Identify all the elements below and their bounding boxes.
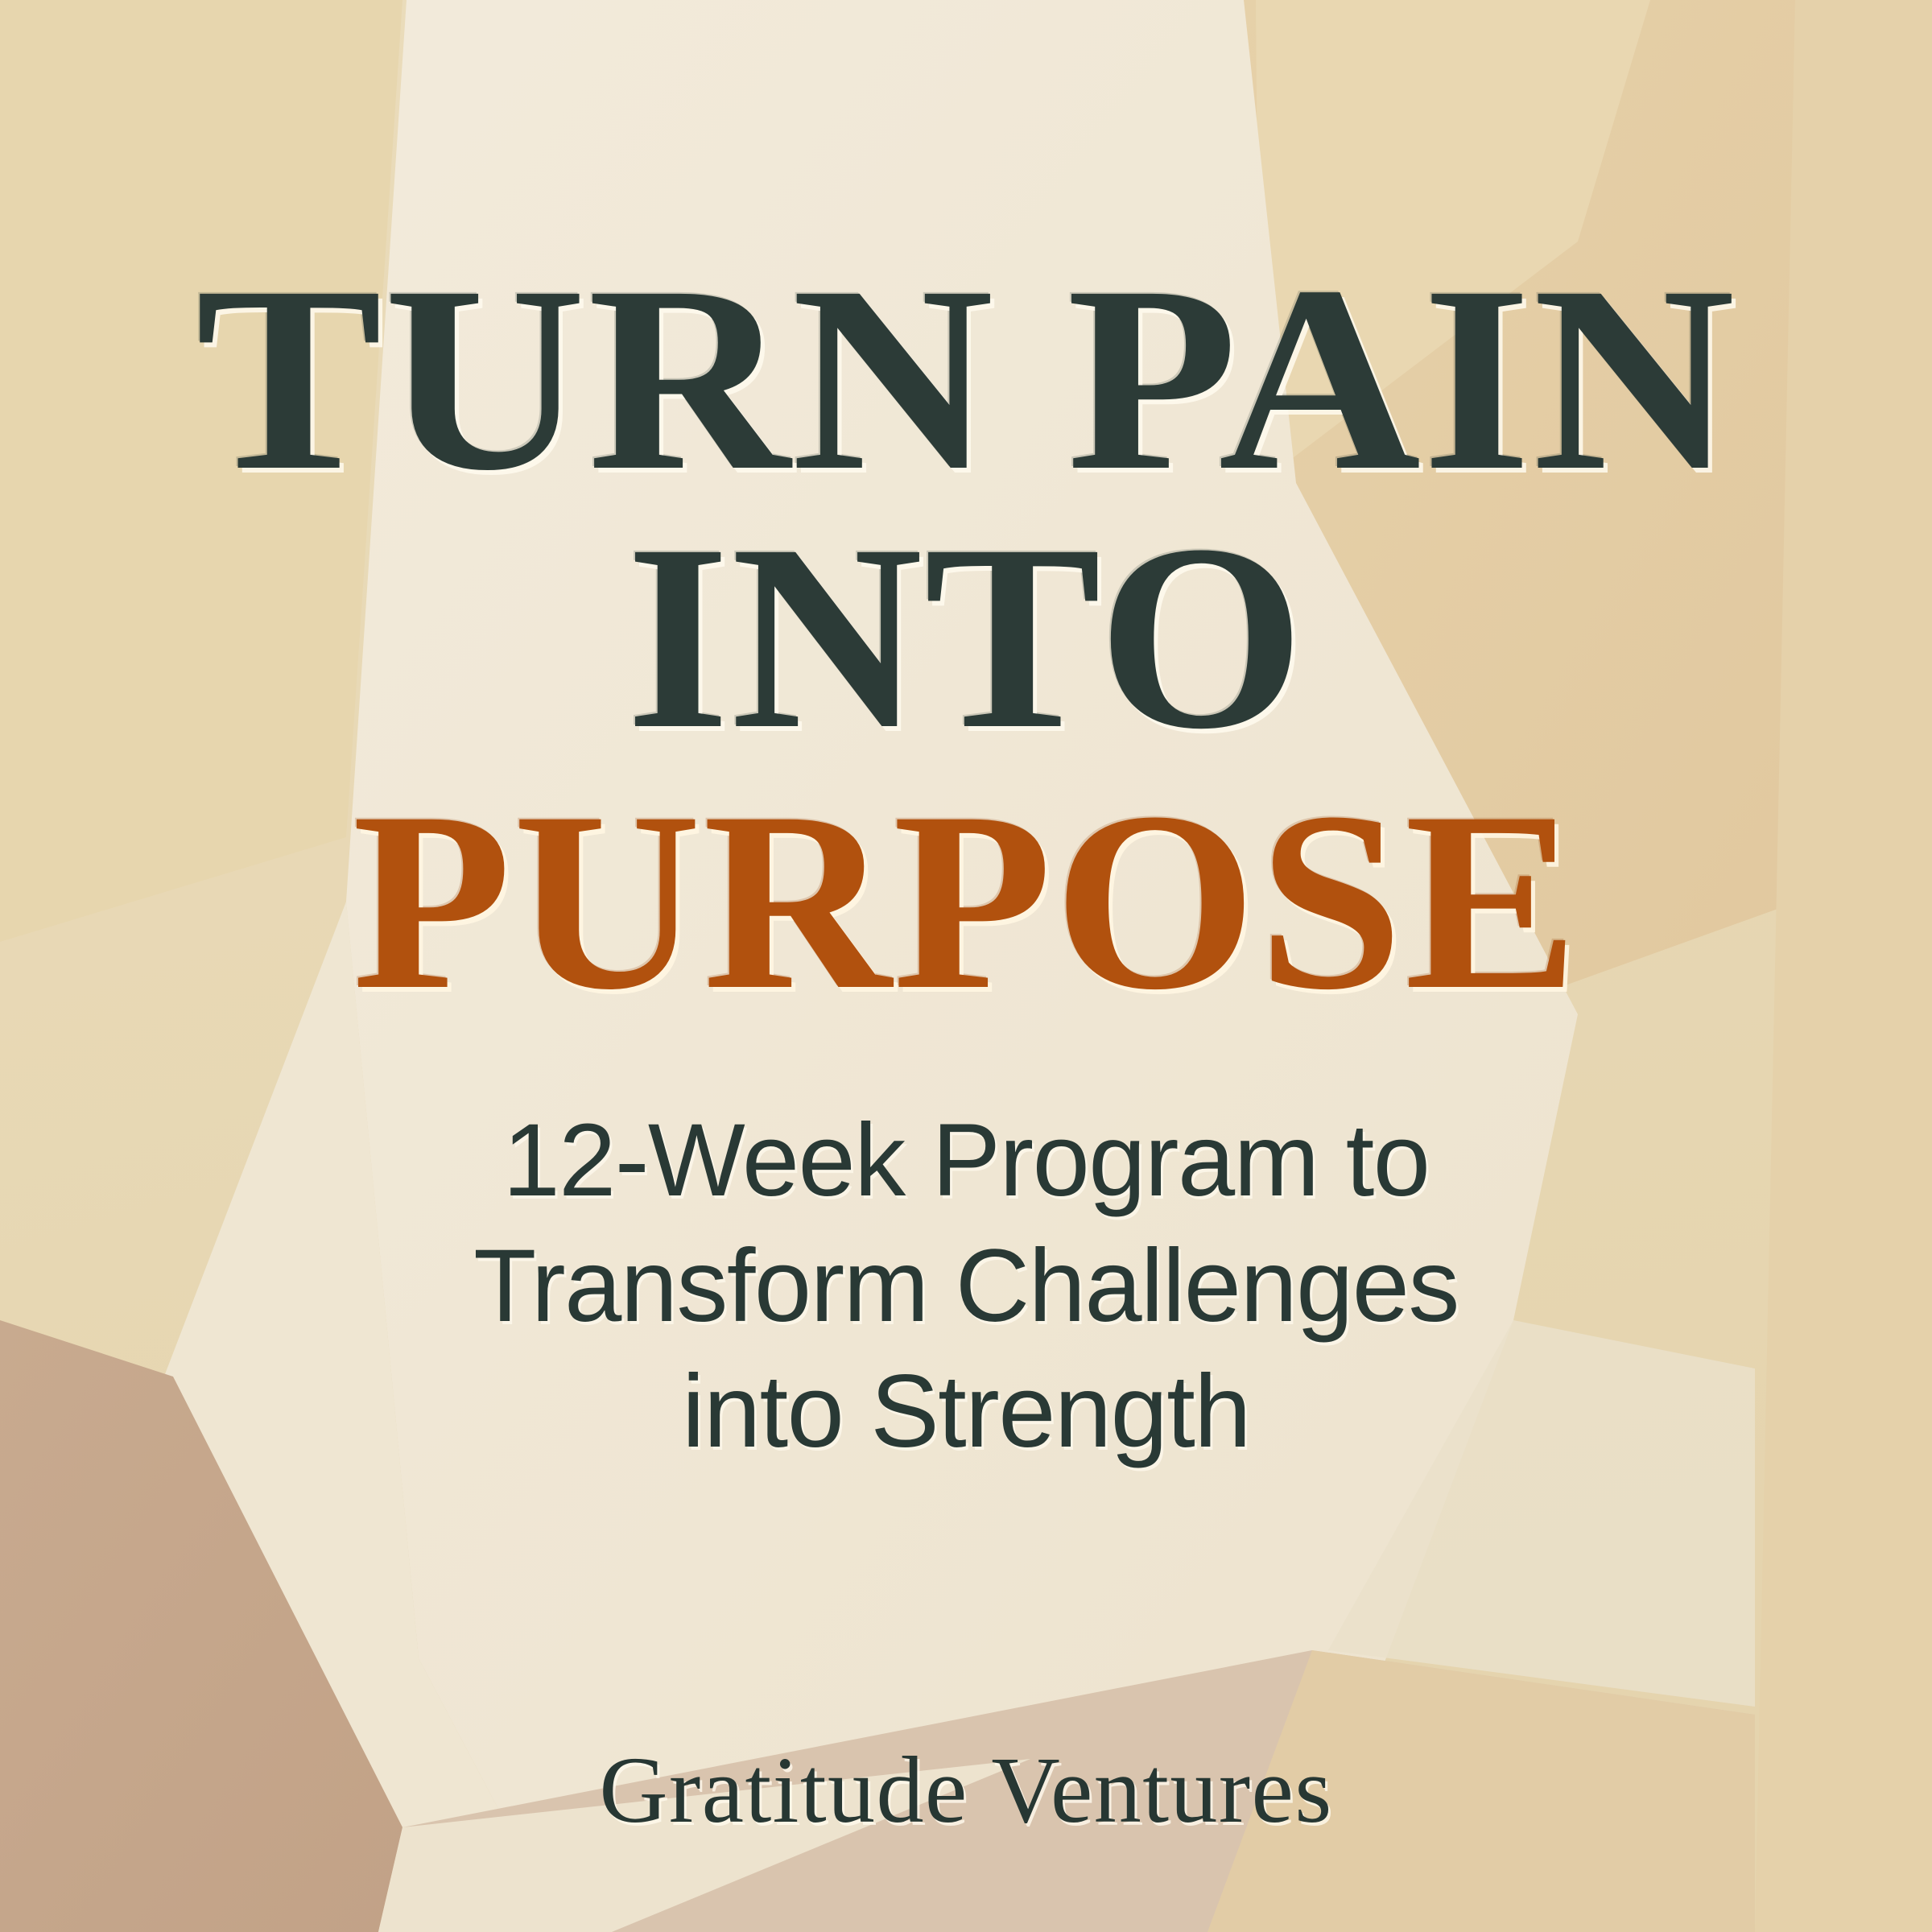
subtitle-line-1: 12-Week Program to bbox=[338, 1098, 1594, 1224]
headline-line-3-accent: PURPOSE bbox=[0, 782, 1932, 1021]
subtitle-line-3: into Strength bbox=[338, 1349, 1594, 1475]
subtitle-line-2: Transform Challenges bbox=[338, 1224, 1594, 1349]
poster-canvas: TURN PAIN INTO PURPOSE 12-Week Program t… bbox=[0, 0, 1932, 1932]
headline-block: TURN PAIN INTO PURPOSE bbox=[0, 256, 1932, 1021]
poster-content: TURN PAIN INTO PURPOSE 12-Week Program t… bbox=[0, 0, 1932, 1932]
footer-block: Gratitude Ventures bbox=[0, 1736, 1932, 1845]
subtitle-block: 12-Week Program to Transform Challenges … bbox=[338, 1098, 1594, 1475]
headline-line-1: TURN PAIN bbox=[0, 256, 1932, 503]
brand-name: Gratitude Ventures bbox=[599, 1737, 1332, 1843]
headline-line-2: INTO bbox=[0, 514, 1932, 762]
